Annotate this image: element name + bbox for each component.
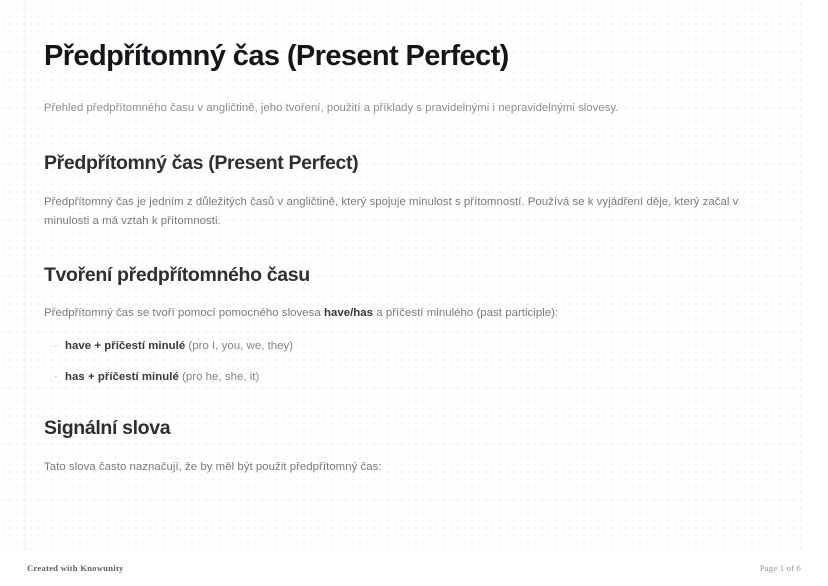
list-item: ·has + příčestí minulé (pro he, she, it) (44, 369, 784, 386)
document-content: Předpřítomný čas (Present Perfect) Přehl… (44, 0, 784, 586)
list-item-detail-have: (pro I, you, we, they) (185, 340, 293, 352)
list-item: ·have + příčestí minulé (pro I, you, we,… (44, 338, 784, 355)
section-paragraph-signalni-slova: Tato slova často naznačují, že by měl bý… (44, 440, 784, 478)
paragraph-bold-have-has: have/has (324, 307, 373, 319)
page-right-margin (802, 0, 828, 586)
section-paragraph-tvoreni: Předpřítomný čas se tvoří pomocí pomocné… (44, 287, 784, 324)
bullet-marker-icon: · (54, 338, 58, 355)
section-heading-present-perfect: Předpřítomný čas (Present Perfect) (44, 117, 784, 175)
list-item-detail-has: (pro he, she, it) (179, 371, 260, 383)
document-subtitle: Přehled předpřítomného času v angličtině… (44, 73, 784, 117)
document-page: Předpřítomný čas (Present Perfect) Přehl… (0, 0, 828, 586)
list-item-bold-have: have + příčestí minulé (65, 340, 185, 352)
page-left-edge-shadow (24, 0, 31, 586)
section-heading-signalni-slova: Signální slova (44, 386, 784, 440)
bullet-marker-icon: · (54, 369, 58, 386)
paragraph-text-lead: Předpřítomný čas se tvoří pomocí pomocné… (44, 307, 324, 319)
footer-credit: Created with Knowunity (27, 563, 124, 573)
list-item-bold-has: has + příčestí minulé (65, 371, 179, 383)
footer-page-indicator: Page 1 of 6 (760, 563, 801, 573)
section-paragraph-present-perfect: Předpřítomný čas je jedním z důležitých … (44, 176, 784, 232)
section-heading-tvoreni: Tvoření předpřítomného času (44, 232, 784, 287)
page-title: Předpřítomný čas (Present Perfect) (44, 0, 784, 73)
formation-bullet-list: ·have + příčestí minulé (pro I, you, we,… (44, 324, 784, 386)
paragraph-text-tail: a příčestí minulého (past participle): (373, 307, 558, 319)
page-footer: Created with Knowunity Page 1 of 6 (0, 550, 828, 586)
